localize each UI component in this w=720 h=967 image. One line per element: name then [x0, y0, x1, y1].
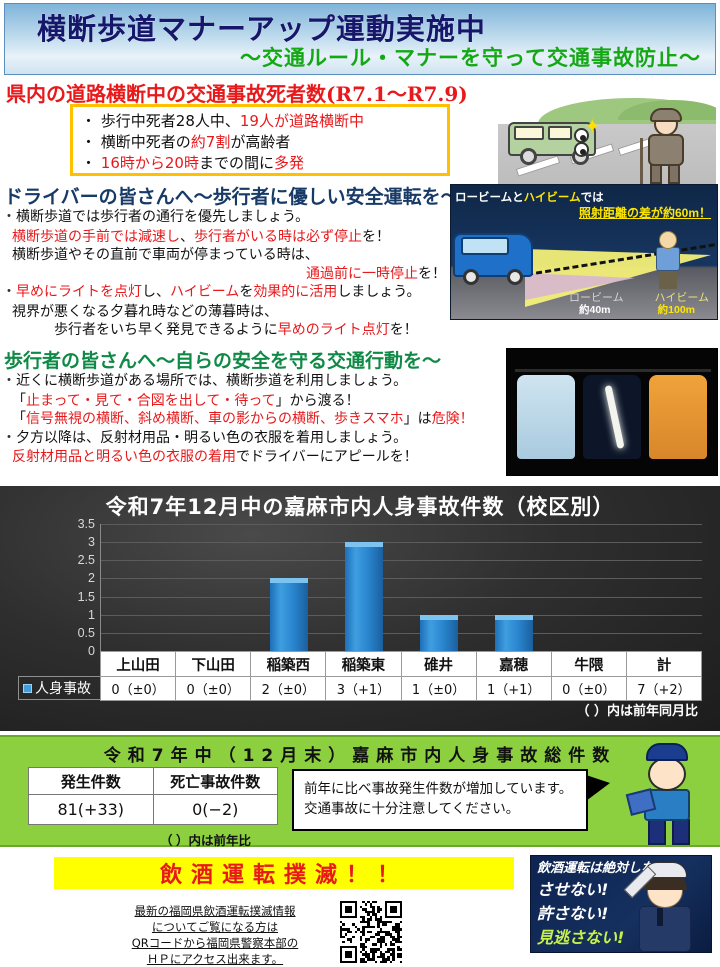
- column-header: 稲築東: [326, 652, 401, 677]
- legend-label: 人身事故: [35, 678, 91, 698]
- legend-swatch-icon: [23, 684, 32, 693]
- text-run: しましょう。: [337, 284, 420, 300]
- header-banner: 横断歩道マナーアップ運動実施中 ～交通ルール・マナーを守って交通事故防止～: [4, 3, 716, 75]
- chart-legend: 人身事故: [18, 676, 102, 700]
- qr-line-4: ＨＰにアクセス出来ます。: [100, 951, 330, 967]
- text-run: 止まって・見て・合図を出して・待って: [26, 393, 276, 409]
- column-header: 嘉穂: [476, 652, 551, 677]
- illustration-reflective-clothing: [506, 348, 718, 476]
- dui-poster-image: 飲酒運転は絶対しない! させない! 許さない! 見逃さない!: [530, 855, 712, 953]
- text-run: 歩行者がいる時は必ず停止: [194, 229, 362, 245]
- text-run: 視界が悪くなる夕暮れ時などの薄暮時は、: [12, 304, 278, 320]
- value-occurrences: 81(+33): [29, 795, 154, 825]
- text-run: 早めにライトを点灯: [16, 284, 142, 300]
- list-item: 近くに横断歩道がある場所では、横断歩道を利用しましょう。: [2, 372, 522, 391]
- table-cell: 0（±0）: [551, 677, 626, 701]
- blue-car-window: [461, 237, 509, 255]
- y-axis-tick-label: 3.5: [78, 517, 95, 531]
- car-window: [548, 126, 572, 140]
- text-run: を！: [418, 266, 446, 282]
- table-row: 発生件数 死亡事故件数: [29, 768, 278, 795]
- text-line: 視界が悪くなる夕暮れ時などの薄暮時は、: [2, 303, 452, 322]
- text-run: を: [239, 284, 253, 300]
- text-run: し、: [142, 284, 170, 300]
- text-run: 」は: [404, 411, 432, 427]
- clothes-rail: [515, 369, 711, 372]
- table-row-values: 0（±0）0（±0）2（±0）3（+1）1（±0）1（+1）0（±0）7（+2）: [101, 677, 702, 701]
- text-run: を！: [390, 322, 418, 338]
- bubble-line-1: 前年に比べ事故発生件数が増加しています。: [304, 781, 572, 797]
- jacket-orange: [649, 375, 707, 459]
- text-run: を！: [362, 229, 390, 245]
- list-item: 横断歩道では歩行者の通行を優先しましょう。: [2, 208, 452, 227]
- text-run: 横断歩道の手前では減速し: [12, 229, 180, 245]
- dui-banner-text: 飲酒運転撲滅！！: [160, 857, 408, 889]
- table-cell: 3（+1）: [326, 677, 401, 701]
- column-header: 碓井: [401, 652, 476, 677]
- bubble-line-2: 交通事故に十分注意してください。: [304, 801, 519, 817]
- text-run: 夕方以降は、反射材用品・明るい色の衣服を着用しましょう。: [16, 430, 407, 446]
- pedestrian-legs: [659, 269, 677, 289]
- text-line: 通過前に一時停止を！: [2, 265, 452, 284]
- section-drivers: ドライバーの皆さんへ～歩行者に優しい安全運転を～ 横断歩道では歩行者の通行を優先…: [0, 182, 720, 346]
- pedestrian-icon: [653, 231, 683, 289]
- text-line: 「信号無視の横断、斜め横断、車の影からの横断、歩きスマホ」は危険！: [2, 410, 522, 429]
- y-axis-tick-label: 1: [88, 608, 95, 622]
- section-dui-campaign: 飲酒運転撲滅！！ 最新の福岡県飲酒運転撲滅情報 についてご覧になる方は QRコー…: [0, 847, 720, 959]
- list-item: 夕方以降は、反射材用品・明るい色の衣服を着用しましょう。: [2, 429, 522, 448]
- speech-bubble: 前年に比べ事故発生件数が増加しています。 交通事故に十分注意してください。: [292, 769, 588, 831]
- table-cell: 1（+1）: [476, 677, 551, 701]
- police-mascot-icon: [634, 743, 708, 843]
- car-eye-icon: [574, 142, 589, 157]
- high-beam-value: 約100m: [658, 302, 695, 317]
- column-header-occurrences: 発生件数: [29, 768, 154, 795]
- qr-instruction-text: 最新の福岡県飲酒運転撲滅情報 についてご覧になる方は QRコードから福岡県警察本…: [100, 903, 330, 967]
- text-run: 危険！: [432, 411, 474, 427]
- illustration-headlight-beams: ロービームとハイビームでは 照射距離の差が約60m！ ロービーム 約40m ハイ…: [450, 184, 718, 320]
- section1-heading: 県内の道路横断中の交通事故死者数(R7.1～R7.9): [6, 78, 468, 107]
- pedestrian-head: [659, 231, 677, 249]
- text-run: でドライバーにアピールを！: [236, 449, 418, 465]
- section2-heading: ドライバーの皆さんへ～歩行者に優しい安全運転を～: [4, 182, 460, 209]
- beam-distance-text: 照射距離の差が約60m！: [579, 204, 711, 221]
- text-run: 信号無視の横断、斜め横断、車の影からの横断、歩きスマホ: [26, 411, 404, 427]
- y-axis-tick-label: 3: [88, 535, 95, 549]
- jacket-light-blue: [517, 375, 575, 459]
- table-row-headers: 上山田下山田稲築西稲築東碓井嘉穂牛隈計: [101, 652, 702, 677]
- column-header: 上山田: [101, 652, 176, 677]
- chart-gridline: [101, 524, 702, 525]
- text-run: 早めのライト点灯: [278, 322, 390, 338]
- green-section-title: 令和7年中（12月末）嘉麻市内人身事故総件数: [0, 741, 720, 766]
- person-body: [648, 134, 684, 166]
- chart-bar: [345, 542, 383, 651]
- beam-caption: ロービームとハイビームでは: [455, 189, 604, 205]
- y-axis-tick-label: 0.5: [78, 626, 95, 640]
- stats-bullet-list: ・ 歩行中死者28人中、19人が道路横断中 ・ 横断中死者の約7割が高齢者 ・ …: [81, 111, 447, 174]
- y-axis-tick-label: 1.5: [78, 590, 95, 604]
- chart-data-table: 上山田下山田稲築西稲築東碓井嘉穂牛隈計 0（±0）0（±0）2（±0）3（+1）…: [100, 651, 702, 701]
- table-row: 81(+33) 0(−2): [29, 795, 278, 825]
- qr-code[interactable]: [340, 901, 402, 963]
- text-line: 横断歩道の手前では減速し、歩行者がいる時は必ず停止を！: [2, 228, 452, 247]
- section-yearly-totals: 令和7年中（12月末）嘉麻市内人身事故総件数 発生件数 死亡事故件数 81(+3…: [0, 735, 720, 847]
- table-cell: 1（±0）: [401, 677, 476, 701]
- list-item: ・ 16時から20時までの間に多発: [81, 153, 447, 174]
- stats-callout-box: ・ 歩行中死者28人中、19人が道路横断中 ・ 横断中死者の約7割が高齢者 ・ …: [70, 104, 450, 176]
- text-run: 歩行者をいち早く発見できるように: [54, 322, 278, 338]
- person-leg: [650, 164, 662, 184]
- column-header-fatalities: 死亡事故件数: [153, 768, 278, 795]
- text-run: 反射材用品と明るい色の衣服の着用: [12, 449, 236, 465]
- low-beam-value: 約40m: [579, 302, 611, 317]
- text-run: 「: [12, 411, 26, 427]
- pedestrian-body: [656, 247, 680, 271]
- table-cell: 0（±0）: [101, 677, 176, 701]
- value-fatalities: 0(−2): [153, 795, 278, 825]
- column-header: 牛隈: [551, 652, 626, 677]
- text-line: 歩行者をいち早く発見できるように早めのライト点灯を！: [2, 321, 452, 340]
- wheel-icon: [520, 148, 537, 165]
- accident-bar-chart: 令和7年12月中の嘉麻市内人身事故件数（校区別） 00.511.522.533.…: [0, 486, 720, 731]
- chart-plot-area: 00.511.522.533.5: [100, 524, 702, 651]
- yearly-totals-table: 発生件数 死亡事故件数 81(+33) 0(−2): [28, 767, 278, 825]
- chart-gridline: [101, 542, 702, 543]
- y-axis-tick-label: 2: [88, 571, 95, 585]
- mascot-leg: [672, 819, 690, 845]
- text-run: 効果的に活用: [253, 284, 337, 300]
- officer-body: [639, 906, 691, 952]
- elderly-pedestrian-icon: [638, 112, 696, 184]
- drivers-text-block: 横断歩道では歩行者の通行を優先しましょう。横断歩道の手前では減速し、歩行者がいる…: [2, 208, 452, 340]
- chart-title: 令和7年12月中の嘉麻市内人身事故件数（校区別）: [0, 491, 720, 521]
- illustration-car-and-elderly: ✦: [498, 98, 716, 184]
- text-run: 、: [180, 229, 194, 245]
- list-item: ・ 歩行中死者28人中、19人が道路横断中: [81, 111, 447, 132]
- section-prefecture-stats: 県内の道路横断中の交通事故死者数(R7.1～R7.9) ・ 歩行中死者28人中、…: [0, 78, 720, 182]
- table-cell: 2（±0）: [251, 677, 326, 701]
- chart-gridline: [101, 597, 702, 598]
- speech-bubble-tail: [586, 775, 610, 801]
- table-cell: 0（±0）: [176, 677, 251, 701]
- chart-gridline: [101, 615, 702, 616]
- qr-line-1: 最新の福岡県飲酒運転撲滅情報: [100, 903, 330, 919]
- chart-gridline: [101, 560, 702, 561]
- person-hat: [650, 108, 682, 122]
- chart-bar: [420, 615, 458, 651]
- list-item: 早めにライトを点灯し、ハイビームを効果的に活用しましょう。: [2, 283, 452, 302]
- qr-line-3: QRコードから福岡県警察本部の: [100, 935, 330, 951]
- text-run: 「: [12, 393, 26, 409]
- spark-icon: ✦: [584, 114, 601, 139]
- poster-line-4: 見逃さない!: [537, 924, 624, 948]
- mascot-hat: [646, 743, 688, 761]
- poster-line-2: させない!: [537, 876, 608, 900]
- text-run: ハイビーム: [170, 284, 239, 300]
- text-run: 横断歩道では歩行者の通行を優先しましょう。: [16, 209, 309, 225]
- chart-note: （ ）内は前年同月比: [576, 700, 698, 719]
- text-line: 横断歩道やその直前で車両が停まっている時は、: [2, 246, 452, 265]
- list-item: ・ 横断中死者の約7割が高齢者: [81, 132, 447, 153]
- text-line: 「止まって・見て・合図を出して・待って」から渡る！: [2, 392, 522, 411]
- person-leg: [668, 164, 680, 184]
- y-axis-tick-label: 2.5: [78, 553, 95, 567]
- y-axis-tick-label: 0: [88, 644, 95, 658]
- poster-page: 横断歩道マナーアップ運動実施中 ～交通ルール・マナーを守って交通事故防止～ 県内…: [0, 3, 720, 963]
- column-header: 下山田: [176, 652, 251, 677]
- wheel-icon: [507, 269, 523, 285]
- text-run: 」から渡る！: [276, 393, 360, 409]
- mascot-leg: [648, 819, 666, 845]
- table-cell: 7（+2）: [626, 677, 701, 701]
- section-pedestrians: 歩行者の皆さんへ～自らの安全を守る交通行動を～ 近くに横断歩道がある場所では、横…: [0, 346, 720, 486]
- cane-icon: [640, 138, 643, 184]
- text-run: 通過前に一時停止: [306, 266, 418, 282]
- car-window: [514, 126, 544, 140]
- text-run: 横断歩道やその直前で車両が停まっている時は、: [12, 247, 319, 263]
- chart-gridline: [101, 578, 702, 579]
- text-run: 近くに横断歩道がある場所では、横断歩道を利用しましょう。: [16, 373, 407, 389]
- poster-line-3: 許さない!: [537, 900, 608, 924]
- wheel-icon: [463, 269, 479, 285]
- text-line: 反射材用品と明るい色の衣服の着用でドライバーにアピールを！: [2, 448, 522, 467]
- dui-banner: 飲酒運転撲滅！！: [54, 857, 514, 889]
- column-header: 稲築西: [251, 652, 326, 677]
- pedestrians-text-block: 近くに横断歩道がある場所では、横断歩道を利用しましょう。「止まって・見て・合図を…: [2, 372, 522, 467]
- mascot-head: [648, 757, 686, 791]
- page-subtitle: ～交通ルール・マナーを守って交通事故防止～: [240, 42, 701, 72]
- chart-gridline: [101, 633, 702, 634]
- police-officer-icon: [627, 860, 705, 952]
- officer-tie: [657, 908, 663, 926]
- chart-bar: [495, 615, 533, 651]
- section3-heading: 歩行者の皆さんへ～自らの安全を守る交通行動を～: [4, 346, 441, 373]
- column-header: 計: [626, 652, 701, 677]
- qr-line-2: についてご覧になる方は: [100, 919, 330, 935]
- chart-bar: [270, 578, 308, 651]
